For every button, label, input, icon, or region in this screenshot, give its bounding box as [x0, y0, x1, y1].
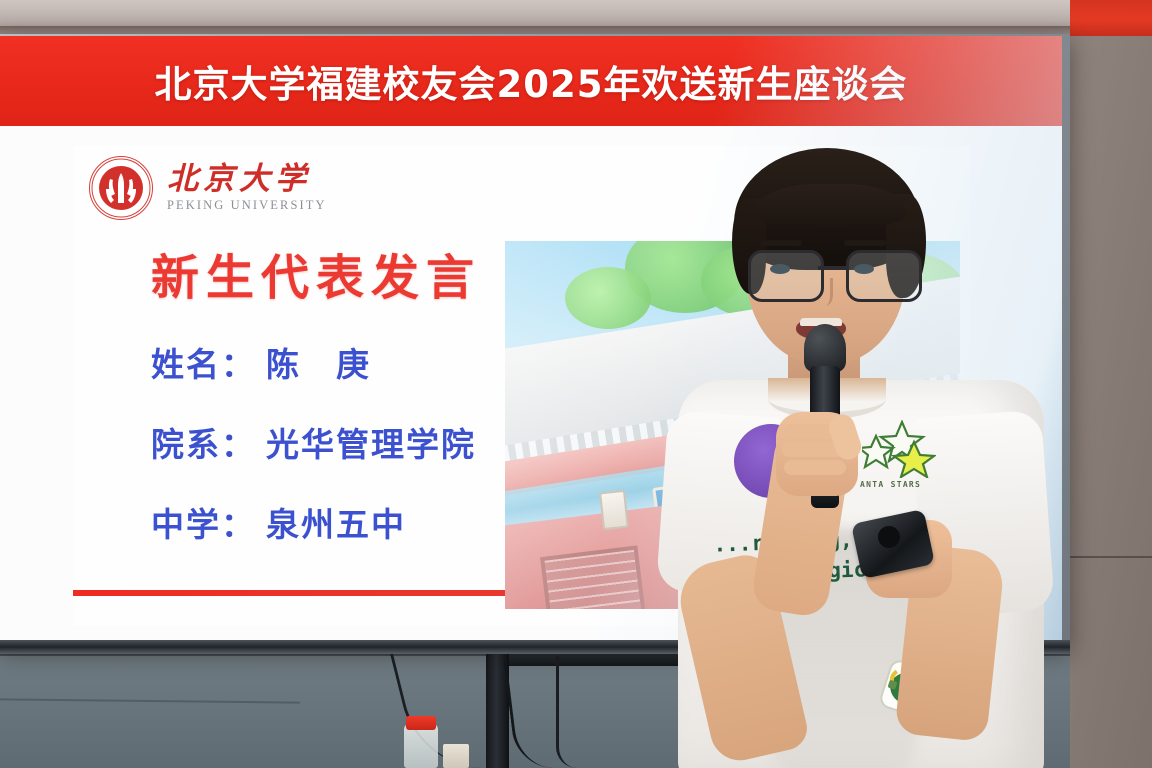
speaker-eyebrow-right	[844, 240, 886, 246]
water-bottle	[404, 724, 438, 768]
info-label-department: 院系：	[151, 425, 256, 464]
speaker-info-list: 姓名：陈 庚 院系：光华管理学院 中学：泉州五中	[151, 338, 476, 578]
pku-logo: 北京大学 PEKING UNIVERSITY	[89, 156, 327, 220]
seal-glyph-icon	[90, 157, 152, 219]
pku-name-chinese: 北京大学	[167, 163, 327, 196]
speaker-hair-fringe	[756, 184, 906, 230]
speaker-finger	[784, 460, 846, 475]
speaker-nose	[814, 278, 833, 306]
info-label-name: 姓名：	[151, 345, 256, 384]
paper-cup	[443, 744, 469, 768]
slide-title: 新生代表发言	[151, 238, 481, 308]
microphone-head	[804, 324, 846, 372]
glasses-bridge	[818, 266, 846, 270]
event-banner: 北京大学福建校友会2025年欢送新生座谈会	[0, 36, 1062, 126]
pku-name-block: 北京大学 PEKING UNIVERSITY	[167, 163, 327, 213]
presentation-scene: 北京大学福建校友会2025年欢送新生座谈会	[0, 0, 1152, 768]
pku-name-english: PEKING UNIVERSITY	[167, 198, 327, 213]
info-row-name: 姓名：陈 庚	[151, 338, 476, 386]
eyeglasses-icon	[748, 250, 918, 296]
info-value-department: 光华管理学院	[266, 425, 476, 464]
pku-seal-icon	[89, 156, 153, 220]
info-row-department: 院系：光华管理学院	[151, 418, 476, 466]
speaker-eyebrow-left	[760, 240, 802, 246]
student-speaker: ANTA STARS ...reating, ...ay: magic	[618, 128, 1088, 768]
info-value-name: 陈 庚	[266, 345, 371, 384]
event-banner-title: 北京大学福建校友会2025年欢送新生座谈会	[155, 54, 908, 108]
info-row-school: 中学：泉州五中	[151, 498, 476, 546]
glasses-lens-right	[846, 250, 922, 302]
info-label-school: 中学：	[151, 505, 256, 544]
power-cable	[556, 656, 577, 768]
slide-divider-rule	[73, 590, 516, 596]
glasses-lens-left	[748, 250, 824, 302]
tshirt-logo-caption: ANTA STARS	[860, 480, 921, 489]
info-value-school: 泉州五中	[266, 505, 406, 544]
bottle-cap-icon	[406, 716, 436, 730]
anta-stars-logo-icon	[862, 420, 936, 478]
